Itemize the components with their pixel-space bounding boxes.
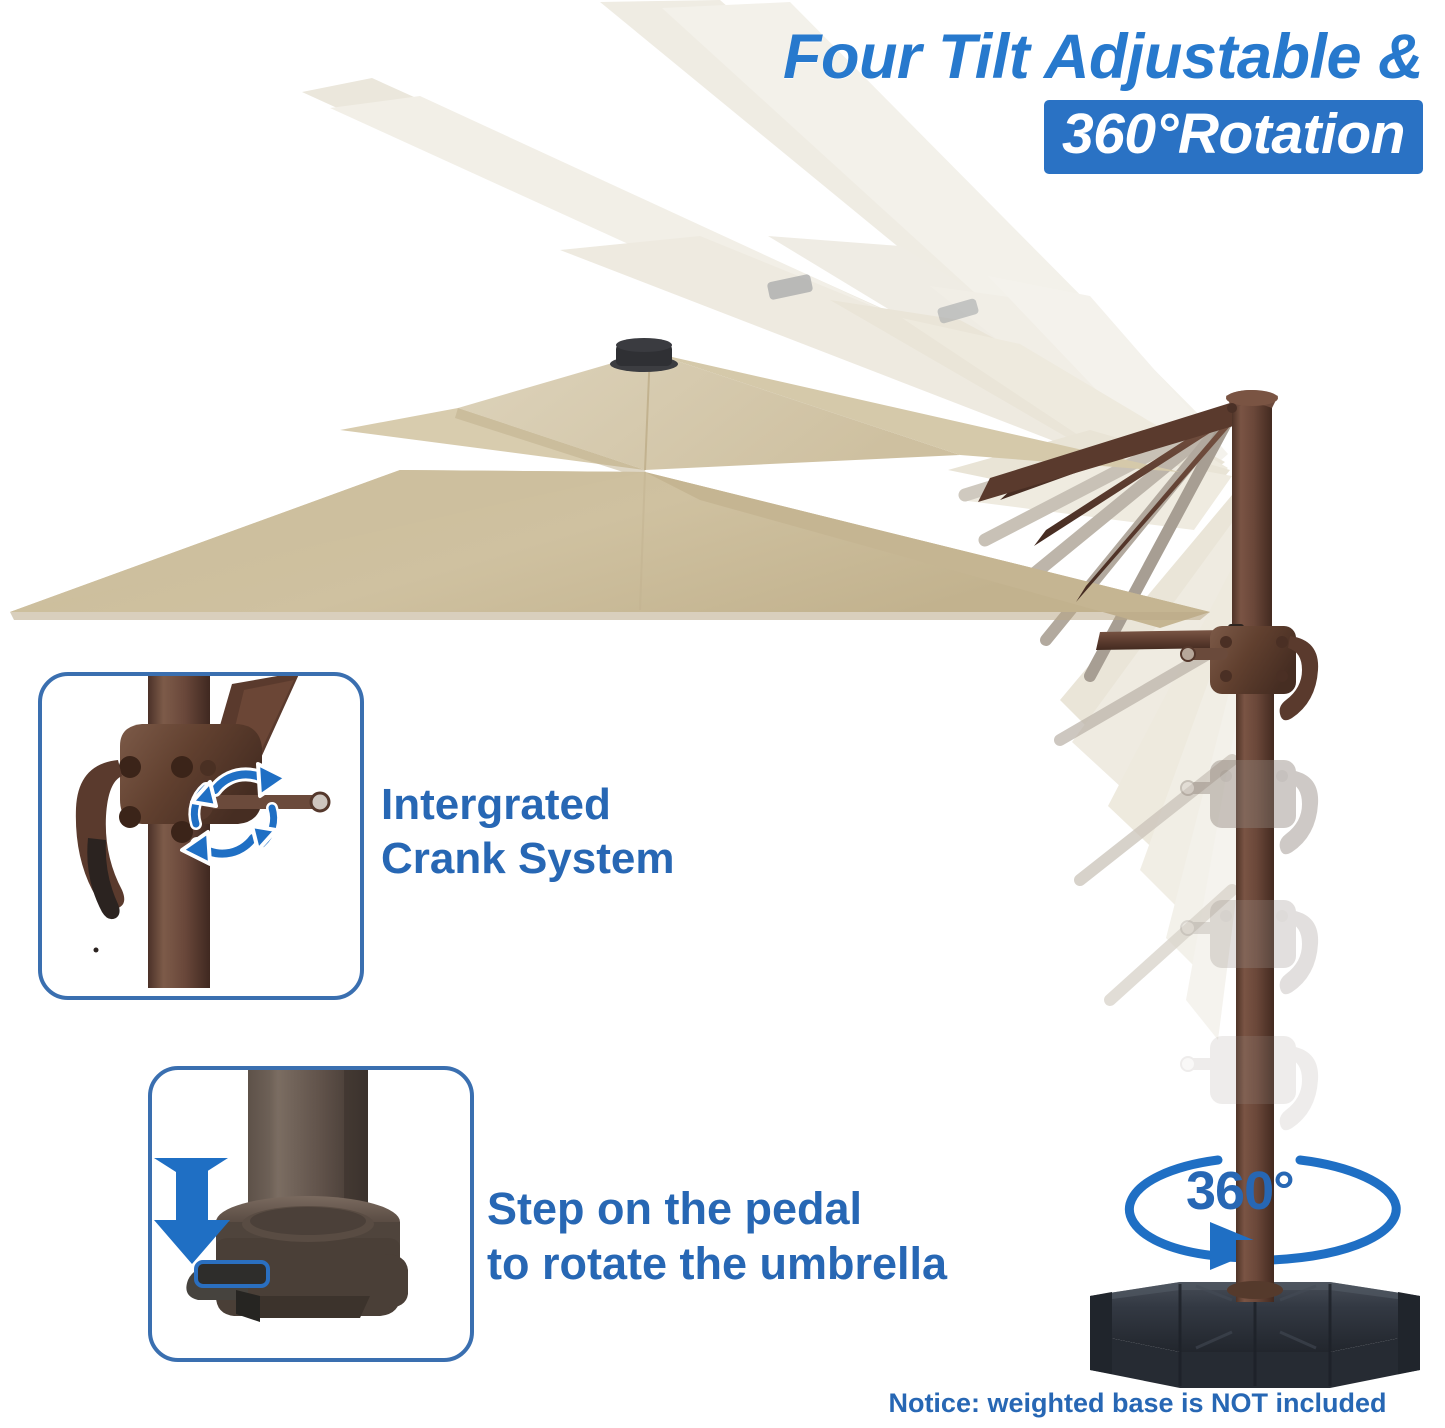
pedal-inset-frame [148, 1066, 474, 1362]
headline-line-1: Four Tilt Adjustable & [783, 24, 1423, 90]
base-not-included-notice: Notice: weighted base is NOT included [840, 1388, 1435, 1419]
weighted-base [1090, 1240, 1420, 1388]
rotation-badge: 360°Rotation [1044, 100, 1423, 174]
callout-pedal-rotate: Step on the pedal to rotate the umbrella [487, 1182, 947, 1292]
canopy-finial-icon [610, 338, 678, 372]
crank-inset-frame [38, 672, 364, 1000]
infographic-page: Four Tilt Adjustable & 360°Rotation Inte… [0, 0, 1445, 1428]
rotation-degrees-label: 360° [1186, 1160, 1294, 1222]
headline-block: Four Tilt Adjustable & 360°Rotation [783, 24, 1423, 174]
callout-crank-system: Intergrated Crank System [381, 778, 674, 885]
rotation-badge-label: 360°Rotation [1062, 103, 1405, 166]
